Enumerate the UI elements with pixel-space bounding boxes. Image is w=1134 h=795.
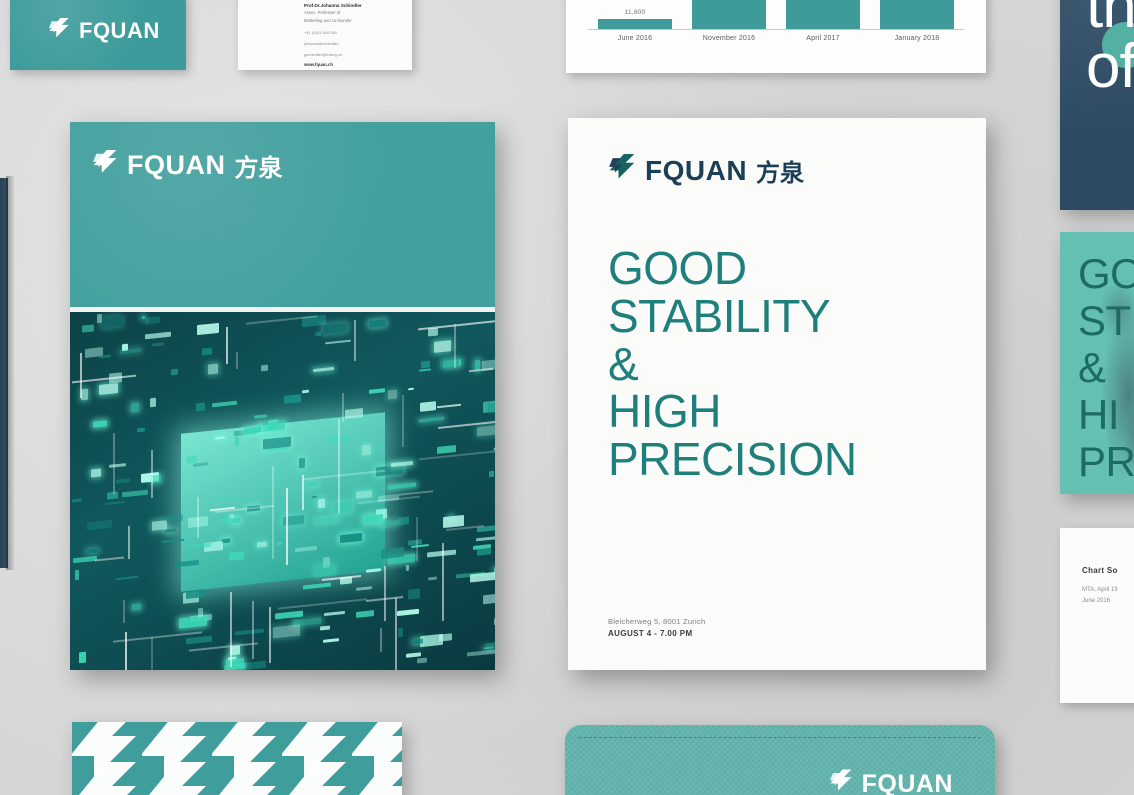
pcb-component bbox=[186, 456, 197, 464]
pcb-trace bbox=[230, 592, 232, 667]
headline-line: & bbox=[608, 341, 946, 389]
poster-address: Bleicherweg 5, 8001 Zurich bbox=[608, 617, 705, 626]
edge-piece-shadow bbox=[6, 176, 15, 570]
bar bbox=[598, 19, 672, 29]
poster-datetime: AUGUST 4 - 7.00 PM bbox=[608, 629, 705, 638]
pcb-component bbox=[398, 516, 409, 525]
bc-contact-line3: gschindler@fuweg.ch bbox=[304, 52, 402, 58]
bc-details: Prof.Dr.Johanna Schindler Assoc. Profess… bbox=[304, 3, 402, 67]
pcb-trace bbox=[342, 393, 344, 422]
poster-footer: Bleicherweg 5, 8001 Zurich AUGUST 4 - 7.… bbox=[608, 617, 705, 638]
pattern-card bbox=[72, 722, 402, 795]
axis-tick-label: January 2018 bbox=[880, 35, 954, 42]
pcb-component bbox=[323, 322, 347, 333]
logo-pattern-strip bbox=[72, 722, 402, 795]
poster-navy: th of bbox=[1060, 0, 1134, 210]
pcb-component bbox=[208, 363, 218, 374]
pcb-component bbox=[261, 365, 268, 372]
pcb-trace bbox=[113, 433, 115, 494]
logo-lockup-brochure: FQUAN 方泉 bbox=[92, 148, 283, 183]
source-line2: June 2016 bbox=[1082, 596, 1134, 607]
headline-line: & bbox=[1078, 344, 1134, 391]
source-body: MTA, April 19 June 2016 bbox=[1082, 585, 1134, 607]
pcb-trace bbox=[128, 526, 130, 559]
pattern-motif bbox=[282, 722, 352, 795]
pcb-trace bbox=[354, 320, 356, 361]
pcb-component bbox=[477, 424, 495, 436]
bar-column bbox=[880, 0, 954, 29]
pcb-component bbox=[413, 638, 423, 644]
bc-contact-line1: +41 (0)43 544 080 bbox=[304, 30, 402, 36]
pcb-component bbox=[97, 313, 102, 322]
pattern-motif bbox=[72, 722, 142, 795]
mockup-scene: FQUAN Technology Ltd. Prof.Dr.Johanna Sc… bbox=[0, 0, 1134, 795]
headline-line: HIGH bbox=[608, 388, 946, 436]
bc-contact-line2: johanna@schindler bbox=[304, 41, 402, 47]
pcb-trace bbox=[402, 395, 404, 447]
pcb-trace bbox=[197, 497, 199, 538]
pcb-trace bbox=[442, 543, 444, 621]
pcb-component bbox=[82, 324, 94, 332]
pcb-trace bbox=[338, 418, 340, 512]
pcb-component bbox=[345, 408, 363, 418]
bar-chart-plot: 11,80034,000 bbox=[588, 0, 964, 30]
chinese-name-brochure: 方泉 bbox=[235, 148, 283, 183]
fabric-notebook: FQUAN bbox=[565, 725, 995, 795]
bar bbox=[786, 0, 860, 29]
pattern-motif bbox=[352, 722, 402, 795]
pcb-component bbox=[79, 652, 86, 664]
pcb-trace bbox=[384, 566, 386, 622]
pcb-component bbox=[302, 389, 309, 393]
fquan-logo-icon bbox=[92, 148, 118, 183]
pcb-trace bbox=[151, 450, 153, 498]
pcb-trace bbox=[151, 637, 153, 670]
source-line1: MTA, April 19 bbox=[1082, 585, 1134, 596]
fquan-logo-icon bbox=[48, 17, 70, 46]
logo-lockup-poster: FQUAN 方泉 bbox=[608, 152, 946, 189]
bc-person-name: Prof.Dr.Johanna Schindler bbox=[304, 3, 402, 8]
pattern-motif bbox=[142, 722, 212, 795]
bc-role-line2: Marketing and co-founder bbox=[304, 18, 402, 24]
pcb-component bbox=[417, 657, 427, 663]
wordmark-topleft: FQUAN bbox=[79, 20, 160, 42]
card-topleft: FQUAN bbox=[10, 0, 186, 70]
pcb-component bbox=[91, 468, 101, 477]
pcb-component bbox=[489, 470, 494, 476]
pcb-trace bbox=[252, 601, 254, 659]
bar-column: 34,000 bbox=[692, 0, 766, 29]
poster-teal-headline: GOST&HIPR bbox=[1078, 250, 1134, 485]
pcb-trace bbox=[272, 466, 274, 559]
pcb-component bbox=[406, 564, 409, 571]
bar-value-label: 11,800 bbox=[625, 9, 646, 16]
pcb-component bbox=[318, 499, 325, 508]
pcb-component bbox=[277, 541, 282, 545]
pcb-component bbox=[388, 390, 397, 400]
bar bbox=[880, 0, 954, 29]
pcb-trace bbox=[454, 324, 456, 368]
pcb-component bbox=[439, 633, 452, 641]
fquan-logo-icon bbox=[608, 152, 636, 189]
pcb-component bbox=[150, 397, 156, 406]
logo-lockup-topleft: FQUAN bbox=[48, 17, 160, 46]
headline-line: ST bbox=[1078, 297, 1134, 344]
pcb-trace bbox=[380, 628, 382, 652]
pcb-component bbox=[75, 570, 79, 580]
poster-navy-line2: of bbox=[1086, 38, 1134, 97]
brochure-header-band: FQUAN 方泉 bbox=[70, 122, 495, 307]
pcb-component bbox=[145, 316, 160, 325]
pcb-trace bbox=[302, 475, 304, 510]
pcb-component bbox=[488, 403, 495, 414]
bar-column: 11,800 bbox=[598, 0, 672, 29]
chart-card: 11,80034,000 June 2016November 2016April… bbox=[566, 0, 986, 73]
headline-line: PRECISION bbox=[608, 436, 946, 484]
fquan-logo-icon bbox=[829, 768, 853, 795]
pcb-component bbox=[81, 388, 88, 399]
headline-line: PR bbox=[1078, 438, 1134, 485]
pcb-component bbox=[235, 437, 239, 447]
axis-tick-label: November 2016 bbox=[692, 35, 766, 42]
pcb-component bbox=[421, 360, 430, 368]
pcb-component bbox=[171, 368, 178, 375]
bar bbox=[692, 0, 766, 29]
bar-column bbox=[786, 0, 860, 29]
pcb-component bbox=[72, 498, 82, 502]
poster-main: FQUAN 方泉 GOODSTABILITY&HIGHPRECISION Ble… bbox=[568, 118, 986, 670]
pcb-trace bbox=[416, 517, 418, 561]
pcb-component bbox=[186, 589, 205, 599]
pcb-component bbox=[132, 604, 141, 611]
stitch-line bbox=[579, 737, 981, 738]
pcb-component bbox=[299, 458, 305, 469]
pcb-component bbox=[408, 589, 420, 600]
wordmark-poster: FQUAN bbox=[645, 157, 747, 185]
headline-line: GO bbox=[1078, 250, 1134, 297]
pcb-component bbox=[131, 403, 139, 413]
brochure-cover: FQUAN 方泉 bbox=[70, 122, 495, 670]
wordmark-brochure: FQUAN bbox=[127, 152, 226, 179]
logo-lockup-fabric: FQUAN bbox=[829, 768, 953, 795]
pcb-component bbox=[362, 445, 371, 456]
axis-tick-label: June 2016 bbox=[598, 35, 672, 42]
pcb-trace bbox=[286, 488, 288, 566]
headline-line: GOOD bbox=[608, 245, 946, 293]
pattern-motif bbox=[212, 722, 282, 795]
pcb-component bbox=[198, 608, 203, 618]
circuit-board-graphic bbox=[70, 312, 495, 670]
bc-website: www.fquan.ch bbox=[304, 62, 402, 67]
chinese-name-poster: 方泉 bbox=[756, 153, 804, 188]
pcb-component bbox=[202, 347, 212, 355]
pcb-component bbox=[196, 403, 205, 412]
wordmark-fabric: FQUAN bbox=[862, 772, 953, 795]
headline-line: HI bbox=[1078, 391, 1134, 438]
bc-role-line1: Assoc. Professor of bbox=[304, 10, 402, 16]
business-card: Technology Ltd. Prof.Dr.Johanna Schindle… bbox=[238, 0, 412, 70]
headline-line: STABILITY bbox=[608, 293, 946, 341]
bar-chart-axis: June 2016November 2016April 2017January … bbox=[588, 30, 964, 42]
pcb-component bbox=[257, 541, 267, 547]
poster-teal: GOST&HIPR bbox=[1060, 232, 1134, 494]
pcb-component bbox=[434, 340, 451, 352]
brochure-photo bbox=[70, 312, 495, 670]
pcb-trace bbox=[226, 327, 228, 364]
chart-source-sheet: Chart So MTA, April 19 June 2016 bbox=[1060, 528, 1134, 703]
pcb-component bbox=[483, 593, 495, 605]
axis-tick-label: April 2017 bbox=[786, 35, 860, 42]
pcb-component bbox=[398, 627, 403, 636]
pcb-component bbox=[93, 420, 107, 428]
source-title: Chart So bbox=[1082, 566, 1134, 575]
poster-headline: GOODSTABILITY&HIGHPRECISION bbox=[608, 245, 946, 484]
